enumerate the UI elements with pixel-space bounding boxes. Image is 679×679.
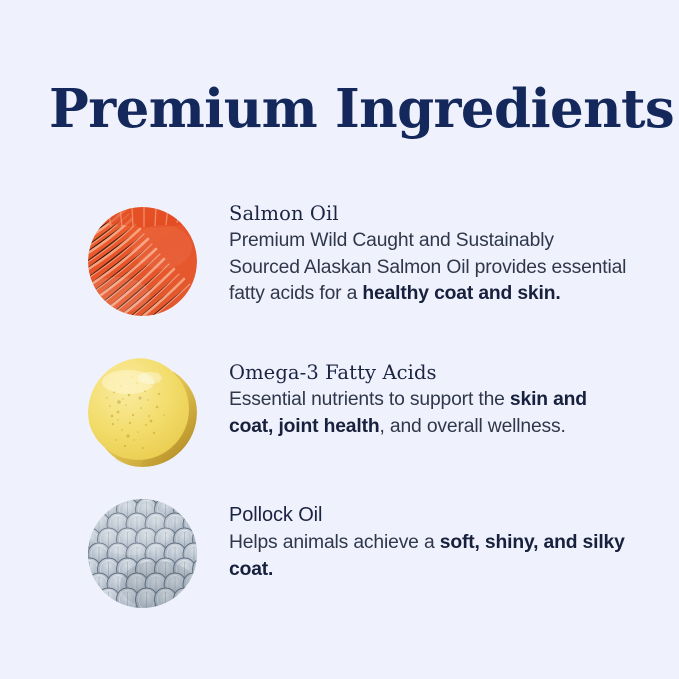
- ingredient-copy: Omega-3 Fatty Acids Essential nutrients …: [229, 359, 629, 440]
- ingredient-name: Pollock Oil: [229, 502, 629, 529]
- ingredient-name: Salmon Oil: [229, 200, 629, 227]
- description-segment: Helps animals achieve a: [229, 532, 440, 553]
- ingredient-description: Essential nutrients to support the skin …: [229, 387, 629, 440]
- ingredient-copy: Pollock Oil Helps animals achieve a soft…: [229, 502, 629, 583]
- ingredient-name: Omega-3 Fatty Acids: [229, 359, 629, 386]
- description-segment: Essential nutrients to support the: [229, 389, 510, 410]
- description-segment-bold: healthy coat and skin.: [362, 283, 560, 304]
- ingredient-list: Salmon Oil Premium Wild Caught and Susta…: [0, 0, 679, 679]
- ingredient-description: Premium Wild Caught and Sustainably Sour…: [229, 228, 629, 308]
- omega-oil-drop-swatch-icon: [88, 358, 197, 467]
- ingredient-description: Helps animals achieve a soft, shiny, and…: [229, 530, 629, 583]
- ingredients-panel: Premium Ingredients: [0, 0, 679, 679]
- salmon-fillet-swatch-icon: [88, 207, 197, 316]
- description-segment: , and overall wellness.: [380, 416, 566, 437]
- fish-scales-swatch-icon: [88, 499, 197, 608]
- ingredient-copy: Salmon Oil Premium Wild Caught and Susta…: [229, 200, 629, 308]
